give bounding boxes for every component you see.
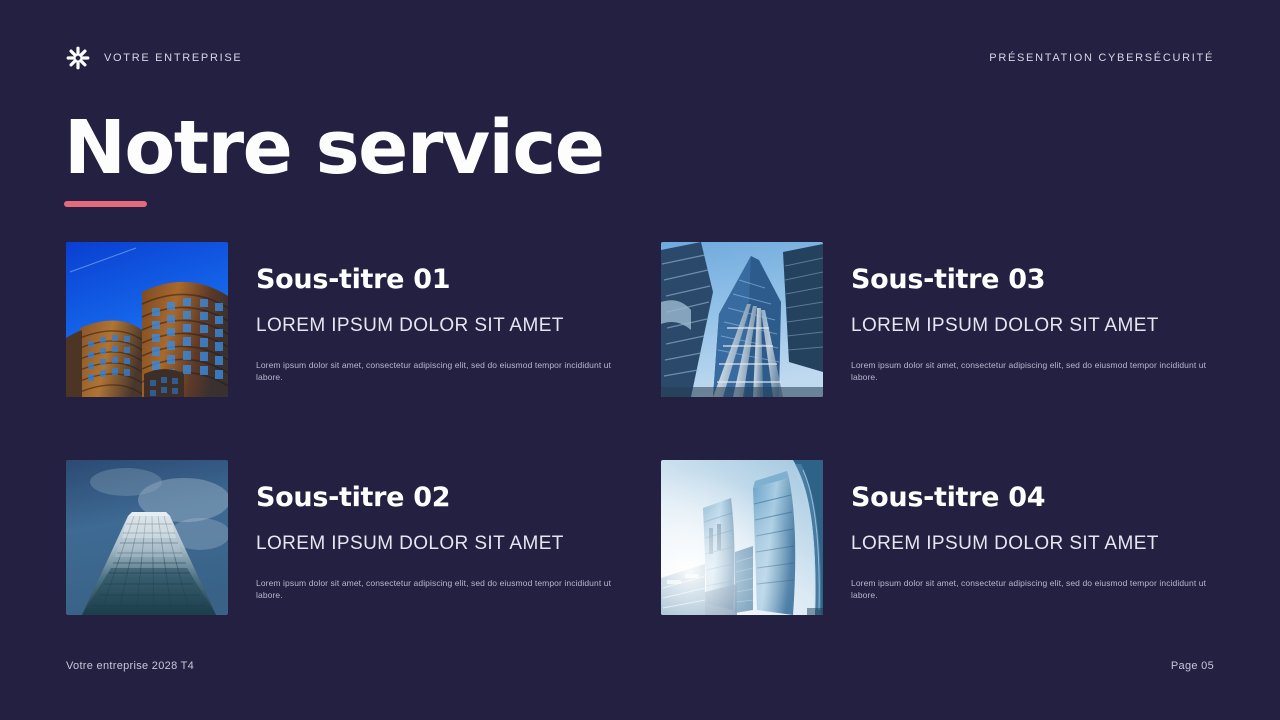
- brand-name: VOTRE ENTREPRISE: [104, 52, 242, 64]
- card-title: Sous-titre 02: [256, 482, 619, 514]
- card-title: Sous-titre 01: [256, 264, 619, 296]
- service-card-grid: Sous-titre 01 LOREM IPSUM DOLOR SIT AMET…: [66, 242, 1214, 615]
- card-subtitle: LOREM IPSUM DOLOR SIT AMET: [256, 314, 619, 338]
- service-card[interactable]: Sous-titre 03 LOREM IPSUM DOLOR SIT AMET…: [661, 242, 1214, 397]
- title-accent-rule: [64, 201, 147, 207]
- slide-header: VOTRE ENTREPRISE PRÉSENTATION CYBERSÉCUR…: [66, 44, 1214, 72]
- service-card[interactable]: Sous-titre 02 LOREM IPSUM DOLOR SIT AMET…: [66, 460, 619, 615]
- card-body: Sous-titre 02 LOREM IPSUM DOLOR SIT AMET…: [256, 460, 619, 601]
- slide: VOTRE ENTREPRISE PRÉSENTATION CYBERSÉCUR…: [0, 0, 1280, 720]
- card-body: Sous-titre 04 LOREM IPSUM DOLOR SIT AMET…: [851, 460, 1214, 601]
- service-card[interactable]: Sous-titre 01 LOREM IPSUM DOLOR SIT AMET…: [66, 242, 619, 397]
- asterisk-logo-icon: [66, 46, 90, 70]
- title-block: Notre service: [64, 106, 603, 207]
- card-subtitle: LOREM IPSUM DOLOR SIT AMET: [851, 532, 1214, 556]
- card-description: Lorem ipsum dolor sit amet, consectetur …: [256, 359, 619, 383]
- glass-skyscrapers-upward-photo: [661, 242, 823, 397]
- page-number: Page 05: [1171, 660, 1214, 672]
- service-card[interactable]: Sous-titre 04 LOREM IPSUM DOLOR SIT AMET…: [661, 460, 1214, 615]
- footer-company-label: Votre entreprise 2028 T4: [66, 660, 194, 672]
- slide-footer: Votre entreprise 2028 T4 Page 05: [66, 660, 1214, 672]
- page-title: Notre service: [64, 106, 603, 190]
- card-subtitle: LOREM IPSUM DOLOR SIT AMET: [851, 314, 1214, 338]
- card-title: Sous-titre 04: [851, 482, 1214, 514]
- card-subtitle: LOREM IPSUM DOLOR SIT AMET: [256, 532, 619, 556]
- card-description: Lorem ipsum dolor sit amet, consectetur …: [256, 577, 619, 601]
- card-title: Sous-titre 03: [851, 264, 1214, 296]
- round-copper-towers-photo: [66, 242, 228, 397]
- card-description: Lorem ipsum dolor sit amet, consectetur …: [851, 577, 1214, 601]
- blue-fisheye-skyline-photo: [661, 460, 823, 615]
- brand: VOTRE ENTREPRISE: [66, 46, 242, 70]
- card-body: Sous-titre 03 LOREM IPSUM DOLOR SIT AMET…: [851, 242, 1214, 383]
- card-description: Lorem ipsum dolor sit amet, consectetur …: [851, 359, 1214, 383]
- presentation-label: PRÉSENTATION CYBERSÉCURITÉ: [989, 52, 1214, 64]
- tall-grid-tower-photo: [66, 460, 228, 615]
- card-body: Sous-titre 01 LOREM IPSUM DOLOR SIT AMET…: [256, 242, 619, 383]
